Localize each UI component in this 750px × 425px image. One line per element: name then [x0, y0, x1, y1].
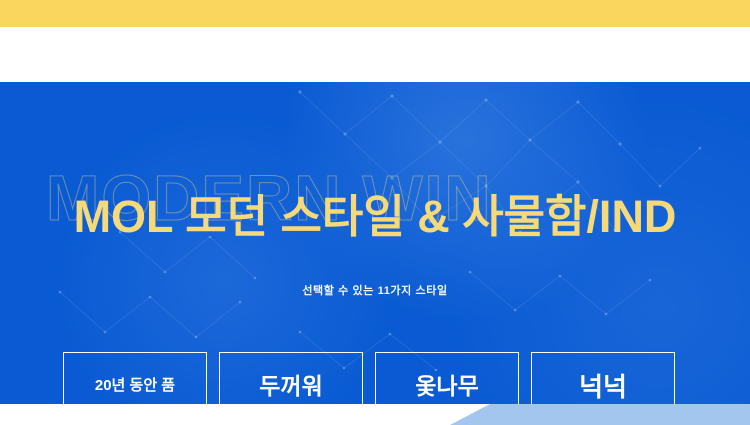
bottom-diagonal-accent: [450, 404, 750, 425]
bottom-strip: [0, 404, 750, 425]
hero-section: MODERN WIN MOL 모던 스타일 & 사물함/IND 선택할 수 있는…: [0, 82, 750, 404]
feature-box-1[interactable]: 20년 동안 품 질에 집중해 왔습니다.: [63, 352, 207, 404]
feature-box-3[interactable]: 옻나무 예술 정전 분사: [375, 352, 519, 404]
feature-box-3-title: 옻나무: [415, 374, 478, 399]
feature-box-list: 20년 동안 품 질에 집중해 왔습니다. 두꺼워 진 냉간압연강판 옻나무 예…: [63, 352, 675, 404]
feature-box-4[interactable]: 넉넉 한 수납공간: [531, 352, 675, 404]
promo-banner-page: MODERN WIN MOL 모던 스타일 & 사물함/IND 선택할 수 있는…: [0, 0, 750, 425]
top-yellow-bar: [0, 0, 750, 27]
white-spacer: [0, 27, 750, 82]
feature-box-2[interactable]: 두꺼워 진 냉간압연강판: [219, 352, 363, 404]
feature-box-2-title: 두꺼워: [259, 374, 322, 399]
page-title: MOL 모던 스타일 & 사물함/IND: [0, 190, 750, 243]
feature-box-1-title: 20년 동안 품: [95, 378, 175, 395]
page-subtitle: 선택할 수 있는 11가지 스타일: [0, 282, 750, 298]
feature-box-4-title: 넉넉: [579, 373, 627, 402]
